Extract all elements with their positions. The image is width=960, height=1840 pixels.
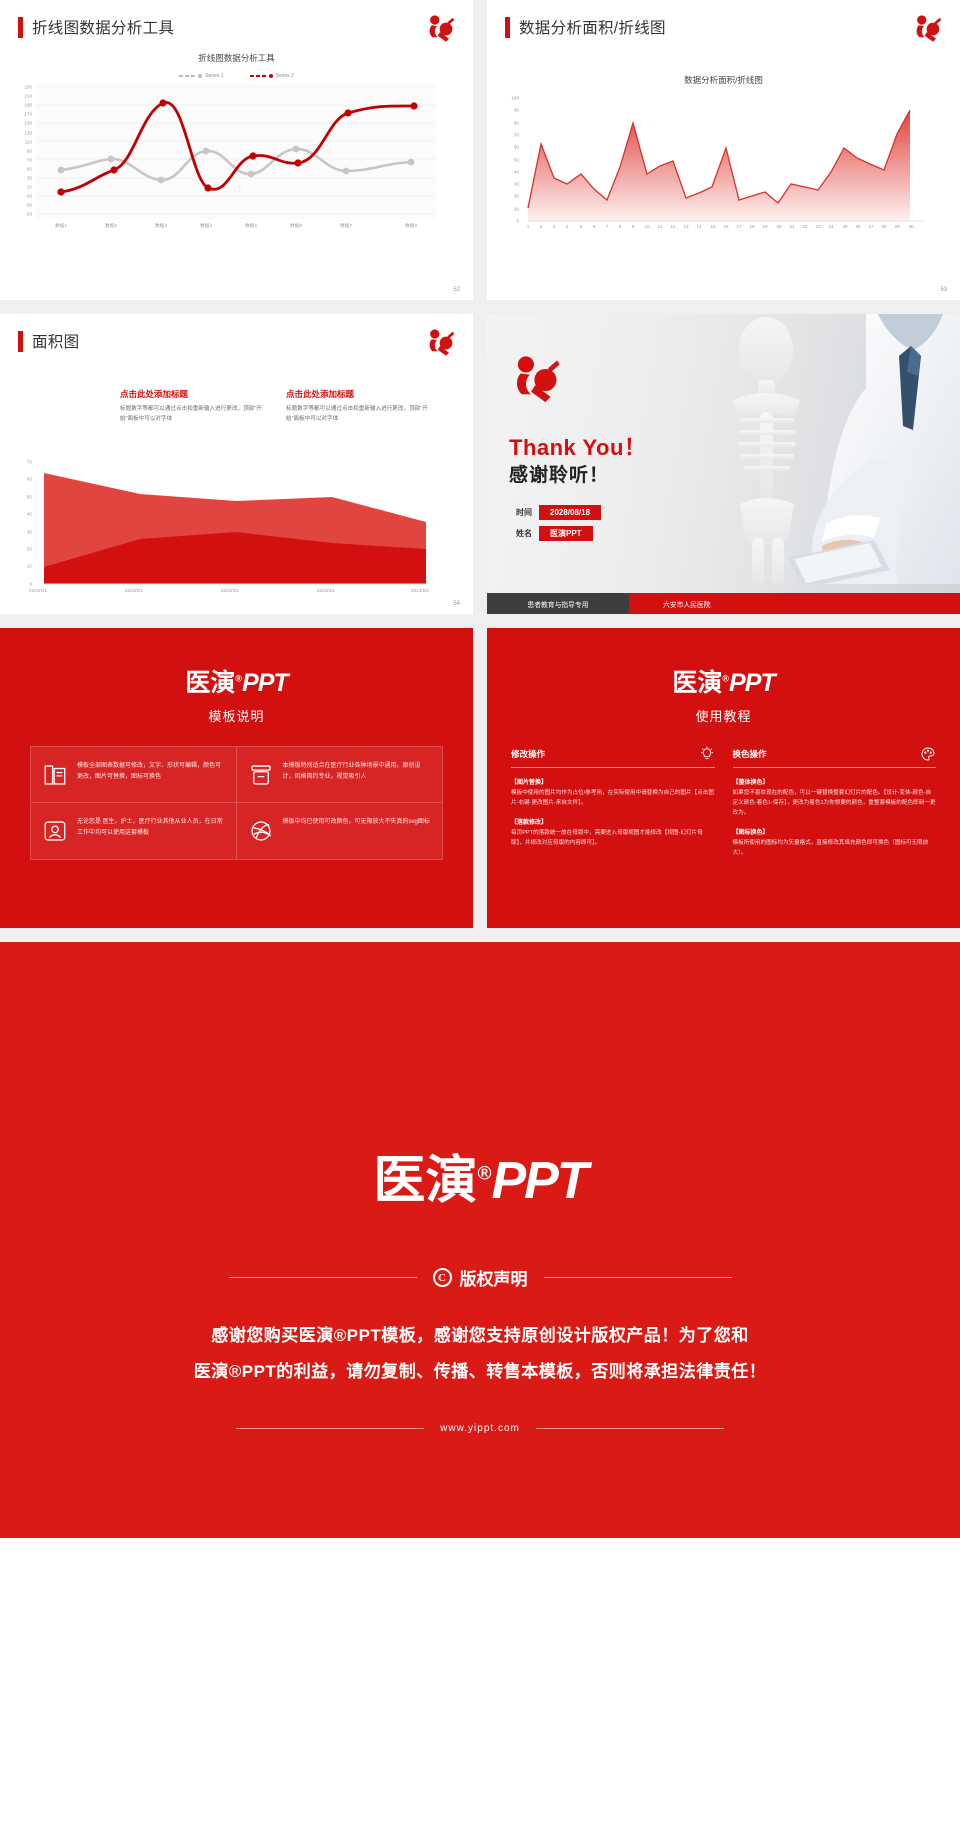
lightbulb-icon — [699, 746, 715, 762]
x-tick-label: 16 — [723, 224, 728, 229]
page-number: 53 — [940, 287, 947, 293]
x-tick-label: 29 — [894, 224, 899, 229]
slide-copyright[interactable]: 医演®PPT C 版权声明 感谢您购买医演®PPT模板，感谢您支持原创设计版权产… — [0, 942, 960, 1538]
field-date-label: 时间 — [509, 505, 539, 520]
divider-left — [229, 1277, 417, 1278]
tutorial-block: 【落款修改】 每页PPT的落款统一放在母版中，需要进入母版视图才能修改【视图-幻… — [511, 817, 715, 848]
line-chart-plot: 230 210 190 170 150 130 110 90 70 50 30 … — [14, 83, 459, 243]
x-tick-label: 数据2 — [105, 223, 117, 229]
thank-you-english: Thank You！ — [509, 430, 646, 462]
stacked-area-svg — [36, 458, 436, 588]
slide-subtitle: 模板说明 — [0, 706, 473, 725]
x-tick-label: 10 — [644, 224, 649, 229]
line-chart-svg — [36, 83, 436, 219]
legend-label: Series 1 — [205, 73, 223, 79]
slide-tutorial[interactable]: 医演®PPT 使用教程 修改操作 — [487, 628, 960, 928]
title-accent-bar — [505, 17, 510, 38]
x-tick-label: 数据5 — [245, 223, 257, 229]
copyright-brand-logo: 医演®PPT — [0, 942, 960, 1213]
tutorial-block: 【图片替换】 模板中使用的图片均作为占位/参考用，在实际使用中请替换为自己的图片… — [511, 777, 715, 808]
slide-gutter — [0, 928, 960, 942]
field-name-value: 医演PPT — [539, 526, 593, 541]
tutorial-column-title: 修改操作 — [511, 748, 545, 760]
tutorial-column-title: 换色操作 — [733, 748, 767, 760]
footer-bar: 患者教育与指导专用 六安市人民医院 — [487, 593, 960, 614]
callout-1: 点击此处添加标题 标题数字等都可以通过点击和重新输入进行更改，顶部“开始”面板中… — [120, 388, 268, 425]
slide-area-line-chart[interactable]: 数据分析面积/折线图 数据分析面积/折线图 100 90 80 70 60 50… — [487, 0, 960, 300]
box-icon — [248, 762, 274, 788]
slide-header: 数据分析面积/折线图 — [487, 0, 960, 38]
brand-name-ppt: PPT — [242, 669, 288, 697]
x-tick-label: 2023/5/1 — [411, 588, 429, 593]
x-tick-label: 24 — [828, 224, 833, 229]
x-tick-label: 21 — [789, 224, 794, 229]
brand-name-cn: 医演 — [185, 668, 235, 697]
copyright-text: 感谢您购买医演®PPT模板，感谢您支持原创设计版权产品！为了您和 医演®PPT的… — [0, 1318, 960, 1389]
x-tick-label: 27 — [868, 224, 873, 229]
feature-card[interactable]: 模板全部图表数据可修改，文字、形状可编辑，颜色可更改，图片可替换，图标可换色 — [31, 747, 237, 803]
x-tick-label: 数据3 — [155, 223, 167, 229]
page-number: 52 — [453, 287, 460, 293]
brand-logo: 医演®PPT — [0, 628, 473, 696]
legend-item-series-2: Series 2 — [250, 73, 294, 79]
feature-card-grid: 模板全部图表数据可修改，文字、形状可编辑，颜色可更改，图片可替换，图标可换色 本… — [30, 746, 443, 860]
feature-card[interactable]: 无论您是 医生、护士，医疗行业其他从业人员，在日常工作中均可以使用这套模板 — [31, 803, 237, 859]
x-tick-label: 19 — [762, 224, 767, 229]
medical-cross-logo-icon — [425, 14, 455, 44]
x-tick-label: 7 — [606, 224, 609, 229]
medical-cross-logo-icon — [509, 354, 561, 406]
brand-logo: 医演®PPT — [487, 628, 960, 696]
chart-title: 折线图数据分析工具 — [0, 52, 473, 64]
tutorial-block-body: 如果您不喜欢现在的配色，可以一键替换整套幻灯片的配色。【设计-变体-颜色-自定义… — [733, 788, 937, 818]
field-name: 姓名 医演PPT — [509, 526, 593, 541]
x-tick-label: 3 — [553, 224, 556, 229]
brand-name-ppt: PPT — [729, 669, 775, 697]
tutorial-block-title: 【整体换色】 — [733, 777, 937, 786]
x-tick-label: 11 — [658, 224, 663, 229]
slide-header: 折线图数据分析工具 — [0, 0, 473, 38]
website-url[interactable]: www.yippt.com — [440, 1423, 520, 1434]
book-icon — [42, 762, 68, 788]
thank-you-chinese: 感谢聆听！ — [509, 460, 609, 487]
slide-row-1: 折线图数据分析工具 折线图数据分析工具 Series 1 Series 2 — [0, 0, 960, 300]
thank-you-canvas: Thank You！ 感谢聆听！ 时间 2028/08/18 姓名 医演PPT … — [487, 314, 960, 614]
x-tick-label: 数据8 — [405, 223, 417, 229]
x-tick-label: 4 — [566, 224, 569, 229]
x-tick-label: 15 — [710, 224, 715, 229]
registered-mark: ® — [477, 1164, 491, 1185]
slide-template-info[interactable]: 医演®PPT 模板说明 模板全部图表数据可修改，文字、形状可编辑，颜色可更改，图… — [0, 628, 473, 928]
copyright-url-row: www.yippt.com — [0, 1423, 960, 1434]
tutorial-block-title: 【图片替换】 — [511, 777, 715, 786]
x-tick-label: 17 — [736, 224, 741, 229]
copyright-notice-row: C 版权声明 — [0, 1265, 960, 1290]
copyright-notice-label: 版权声明 — [460, 1265, 528, 1290]
x-tick-label: 数据4 — [200, 223, 212, 229]
tutorial-block-body: 模板所使用的图标均为矢量格式，直接修改其填充颜色即可换色（图标可无限放大）。 — [733, 838, 937, 858]
x-tick-label: 12 — [670, 224, 675, 229]
feature-card-text: 无论您是 医生、护士，医疗行业其他从业人员，在日常工作中均可以使用这套模板 — [77, 817, 225, 839]
page-title: 面积图 — [32, 330, 79, 352]
tutorial-block-body: 每页PPT的落款统一放在母版中，需要进入母版视图才能修改【视图-幻灯片母版】，并… — [511, 828, 715, 848]
x-tick-label: 5 — [580, 224, 583, 229]
x-tick-label: 20 — [776, 224, 781, 229]
legend-swatch-icon — [250, 75, 266, 77]
slide-gutter — [0, 614, 960, 628]
area-chart-plot: 70 60 50 40 30 20 10 0 2023/1/1 2023/2/1… — [14, 458, 459, 614]
tutorial-column-recolor: 换色操作 【整体换色】 如果您不喜欢现在的配色，可以一键替换整套幻灯片的配色。【… — [733, 746, 937, 858]
chart-legend: Series 1 Series 2 — [0, 73, 473, 79]
x-tick-label: 30 — [908, 224, 913, 229]
page-title: 折线图数据分析工具 — [32, 16, 174, 38]
callout-2: 点击此处添加标题 标题数字等都可以通过点击和重新输入进行更改，顶部“开始”面板中… — [286, 388, 434, 425]
x-tick-label: 18 — [749, 224, 754, 229]
x-tick-label: 9 — [632, 224, 635, 229]
page-number: 54 — [453, 601, 460, 607]
x-tick-label: 1 — [527, 224, 530, 229]
feature-card-text: 本模板特别适合在医疗行业各种场景中通用。原创设计，风格简约专业，视觉吸引人 — [283, 761, 432, 783]
user-badge-icon — [42, 818, 68, 844]
x-tick-label: 14 — [696, 224, 701, 229]
legend-item-series-1: Series 1 — [179, 73, 223, 79]
feature-card[interactable]: 本模板特别适合在医疗行业各种场景中通用。原创设计，风格简约专业，视觉吸引人 — [237, 747, 443, 803]
x-tick-label: 28 — [881, 224, 886, 229]
divider-right — [544, 1277, 732, 1278]
slide-line-chart[interactable]: 折线图数据分析工具 折线图数据分析工具 Series 1 Series 2 — [0, 0, 473, 300]
tutorial-columns: 修改操作 【图片替换】 模板中使用的图片均作为占位/参考用，在实际使用中请替换为… — [511, 746, 936, 858]
legend-swatch-icon — [179, 75, 195, 77]
area-line-chart-plot: 100 90 80 70 60 50 40 30 20 10 0 — [501, 94, 946, 254]
field-name-label: 姓名 — [509, 526, 539, 541]
chart-title: 数据分析面积/折线图 — [487, 74, 960, 86]
brand-name-cn: 医演 — [373, 1152, 477, 1210]
page-title: 数据分析面积/折线图 — [519, 16, 666, 38]
x-tick-label: 数据1 — [55, 223, 67, 229]
x-tick-label: 6 — [593, 224, 596, 229]
x-tick-label: 22 — [802, 224, 807, 229]
legend-label: Series 2 — [276, 73, 294, 79]
x-tick-label: 25 — [842, 224, 847, 229]
dribbble-icon — [248, 818, 274, 844]
tutorial-column-edit: 修改操作 【图片替换】 模板中使用的图片均作为占位/参考用，在实际使用中请替换为… — [511, 746, 715, 858]
x-tick-label: 数据7 — [340, 223, 352, 229]
tutorial-column-header: 换色操作 — [733, 746, 937, 768]
tutorial-column-header: 修改操作 — [511, 746, 715, 768]
x-tick-label: 2023/3/1 — [221, 588, 239, 593]
x-tick-label: 13 — [683, 224, 688, 229]
slide-gutter — [473, 314, 487, 614]
title-accent-bar — [18, 331, 23, 352]
slide-gutter — [473, 628, 487, 928]
callout-group: 点击此处添加标题 标题数字等都可以通过点击和重新输入进行更改，顶部“开始”面板中… — [120, 388, 450, 425]
feature-card-text: 模板全部图表数据可修改，文字、形状可编辑，颜色可更改，图片可替换，图标可换色 — [77, 761, 225, 783]
doctor-photo-illustration — [670, 314, 960, 584]
x-tick-label: 23 — [815, 224, 820, 229]
slide-area-chart[interactable]: 面积图 点击此处添加标题 标题数字等都可以通过点击和重新输入进行更改，顶部“开始… — [0, 314, 473, 614]
field-date-value: 2028/08/18 — [539, 505, 601, 520]
footer-left-text: 患者教育与指导专用 — [487, 593, 629, 614]
medical-cross-logo-icon — [425, 328, 455, 358]
callout-body: 标题数字等都可以通过点击和重新输入进行更改，顶部“开始”面板中可以对字体 — [120, 405, 268, 425]
copyright-icon: C — [433, 1268, 452, 1287]
callout-title: 点击此处添加标题 — [286, 388, 434, 400]
presentation-thumbnail-page: 折线图数据分析工具 折线图数据分析工具 Series 1 Series 2 — [0, 0, 960, 1538]
callout-body: 标题数字等都可以通过点击和重新输入进行更改，顶部“开始”面板中可以对字体 — [286, 405, 434, 425]
feature-card[interactable]: 模板中均已使用可改颜色，可无限放大不失真的svg图标 — [237, 803, 443, 859]
slide-gutter — [0, 300, 960, 314]
brand-name-cn: 医演 — [672, 668, 722, 697]
title-accent-bar — [18, 17, 23, 38]
slide-subtitle: 使用教程 — [487, 706, 960, 725]
footer-right-text: 六安市人民医院 — [629, 593, 960, 614]
slide-header: 面积图 — [0, 314, 473, 352]
x-tick-label: 8 — [619, 224, 622, 229]
tutorial-block: 【图标换色】 模板所使用的图标均为矢量格式，直接修改其填充颜色即可换色（图标可无… — [733, 827, 937, 858]
field-date: 时间 2028/08/18 — [509, 505, 601, 520]
tutorial-block-title: 【落款修改】 — [511, 817, 715, 826]
medical-cross-logo-icon — [912, 14, 942, 44]
x-tick-label: 2023/1/1 — [29, 588, 47, 593]
slide-thank-you[interactable]: Thank You！ 感谢聆听！ 时间 2028/08/18 姓名 医演PPT … — [487, 314, 960, 614]
x-tick-label: 26 — [855, 224, 860, 229]
x-tick-label: 2023/4/1 — [317, 588, 335, 593]
copyright-text-line-1: 感谢您购买医演®PPT模板，感谢您支持原创设计版权产品！为了您和 — [0, 1318, 960, 1354]
copyright-text-line-2: 医演®PPT的利益，请勿复制、传播、转售本模板，否则将承担法律责任！ — [0, 1354, 960, 1390]
x-tick-label: 2 — [540, 224, 543, 229]
divider-left — [236, 1428, 424, 1429]
palette-icon — [920, 746, 936, 762]
slide-gutter — [473, 0, 487, 300]
tutorial-block-body: 模板中使用的图片均作为占位/参考用，在实际使用中请替换为自己的图片【点击图片-右… — [511, 788, 715, 808]
x-tick-label: 2023/2/1 — [125, 588, 143, 593]
x-tick-label: 数据6 — [290, 223, 302, 229]
copyright-notice: C 版权声明 — [433, 1265, 528, 1290]
area-chart-svg — [523, 94, 933, 225]
feature-card-text: 模板中均已使用可改颜色，可无限放大不失真的svg图标 — [283, 817, 430, 828]
callout-title: 点击此处添加标题 — [120, 388, 268, 400]
brand-name-ppt: PPT — [491, 1152, 586, 1210]
tutorial-block: 【整体换色】 如果您不喜欢现在的配色，可以一键替换整套幻灯片的配色。【设计-变体… — [733, 777, 937, 818]
divider-right — [536, 1428, 724, 1429]
slide-row-3: 医演®PPT 模板说明 模板全部图表数据可修改，文字、形状可编辑，颜色可更改，图… — [0, 628, 960, 928]
tutorial-block-title: 【图标换色】 — [733, 827, 937, 836]
slide-row-2: 面积图 点击此处添加标题 标题数字等都可以通过点击和重新输入进行更改，顶部“开始… — [0, 314, 960, 614]
